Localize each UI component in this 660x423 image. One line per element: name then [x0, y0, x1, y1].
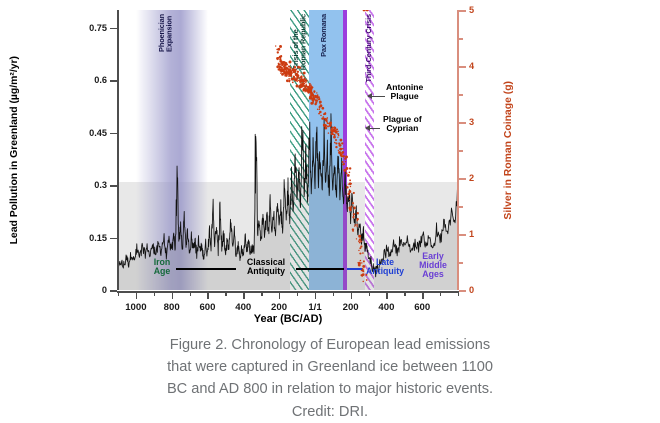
y2-tick-5 — [459, 10, 466, 12]
x-tick-200 — [279, 292, 280, 299]
x-tick-minor — [297, 292, 298, 296]
x-tick-minor — [440, 292, 441, 296]
y2-tick-4 — [459, 66, 466, 68]
y-axis-right-ticks: 012345 — [458, 10, 459, 290]
x-axis-title: Year (BC/AD) — [118, 313, 458, 325]
y2-tick-2 — [459, 178, 466, 180]
y2-tick-minor — [459, 150, 463, 152]
annotation-arrow-plague-of-cyprian — [366, 128, 380, 129]
y-tick-0.3 — [110, 185, 117, 187]
x-tick-800 — [172, 292, 173, 299]
caption-line-1: Figure 2. Chronology of European lead em… — [0, 334, 660, 356]
y-tick-label-0.15: 0.15 — [89, 233, 107, 243]
chart-svg — [118, 10, 458, 290]
x-tick-minor — [333, 292, 334, 296]
y-tick-0 — [110, 290, 117, 292]
x-tick-label-400: 400 — [378, 302, 394, 313]
x-tick-minor — [118, 292, 119, 296]
x-tick-600 — [422, 292, 423, 299]
y-axis-right-title: Silver in Roman Coinage (g) — [500, 10, 516, 290]
y-tick-0.75 — [110, 28, 117, 30]
caption-line-3: BC and AD 800 in relation to major histo… — [0, 378, 660, 400]
y2-tick-label-4: 4 — [469, 61, 474, 71]
y-axis-left-title: Lead Pollution in Greenland (µg/m²/yr) — [6, 10, 22, 290]
x-tick-label-1000: 1000 — [125, 302, 146, 313]
y2-tick-1 — [459, 234, 466, 236]
x-tick-label-200: 200 — [343, 302, 359, 313]
figure-root: Phoenician Expansion Crisis of the Roman… — [0, 0, 660, 420]
y2-tick-minor — [459, 38, 463, 40]
chart-figure: Phoenician Expansion Crisis of the Roman… — [0, 0, 660, 330]
x-tick-400 — [386, 292, 387, 299]
x-tick-600 — [207, 292, 208, 299]
figure-caption: Figure 2. Chronology of European lead em… — [0, 334, 660, 423]
y2-tick-minor — [459, 94, 463, 96]
y-tick-label-0.3: 0.3 — [94, 180, 107, 190]
y-axis-right-title-text: Silver in Roman Coinage (g) — [503, 81, 514, 220]
x-tick-minor — [154, 292, 155, 296]
y2-tick-0 — [459, 290, 466, 292]
x-tick-200 — [351, 292, 352, 299]
y-tick-0.6 — [110, 80, 117, 82]
y-tick-label-0: 0 — [102, 285, 107, 295]
y2-tick-minor — [459, 206, 463, 208]
y-tick-0.15 — [110, 238, 117, 240]
x-axis-ticks: 10008006004002001/1200400600 — [118, 292, 458, 293]
y-axis-left-ticks: 00.150.30.450.60.75 — [117, 10, 118, 290]
caption-line-2: that were captured in Greenland ice betw… — [0, 356, 660, 378]
x-tick-label-1/1: 1/1 — [308, 302, 321, 313]
x-tick-label-200: 200 — [271, 302, 287, 313]
x-tick-minor — [369, 292, 370, 296]
x-tick-label-600: 600 — [199, 302, 215, 313]
y2-tick-label-0: 0 — [469, 285, 474, 295]
y2-tick-label-2: 2 — [469, 173, 474, 183]
y-tick-label-0.6: 0.6 — [94, 75, 107, 85]
annotation-arrow-antonine-plague — [368, 96, 385, 97]
y-axis-left-title-text: Lead Pollution in Greenland (µg/m²/yr) — [9, 56, 20, 244]
x-tick-label-600: 600 — [414, 302, 430, 313]
x-tick-1000 — [136, 292, 137, 299]
x-tick-label-800: 800 — [164, 302, 180, 313]
x-tick-minor — [225, 292, 226, 296]
plot-area: Phoenician Expansion Crisis of the Roman… — [118, 10, 458, 290]
y2-tick-label-1: 1 — [469, 229, 474, 239]
x-tick-minor — [261, 292, 262, 296]
annotation-plague-of-cyprian: Plague of Cyprian — [383, 115, 422, 133]
annotation-antonine-plague: Antonine Plague — [386, 83, 423, 101]
x-tick-label-400: 400 — [235, 302, 251, 313]
x-tick-minor — [458, 292, 459, 296]
y2-tick-label-5: 5 — [469, 5, 474, 15]
x-tick-400 — [243, 292, 244, 299]
y2-tick-3 — [459, 122, 466, 124]
x-tick-minor — [190, 292, 191, 296]
x-tick-minor — [404, 292, 405, 296]
x-tick-1/1 — [315, 292, 316, 299]
y2-tick-minor — [459, 262, 463, 264]
y2-tick-label-3: 3 — [469, 117, 474, 127]
y-tick-label-0.75: 0.75 — [89, 23, 107, 33]
y-tick-0.45 — [110, 133, 117, 135]
y-tick-label-0.45: 0.45 — [89, 128, 107, 138]
caption-line-4: Credit: DRI. — [0, 401, 660, 423]
